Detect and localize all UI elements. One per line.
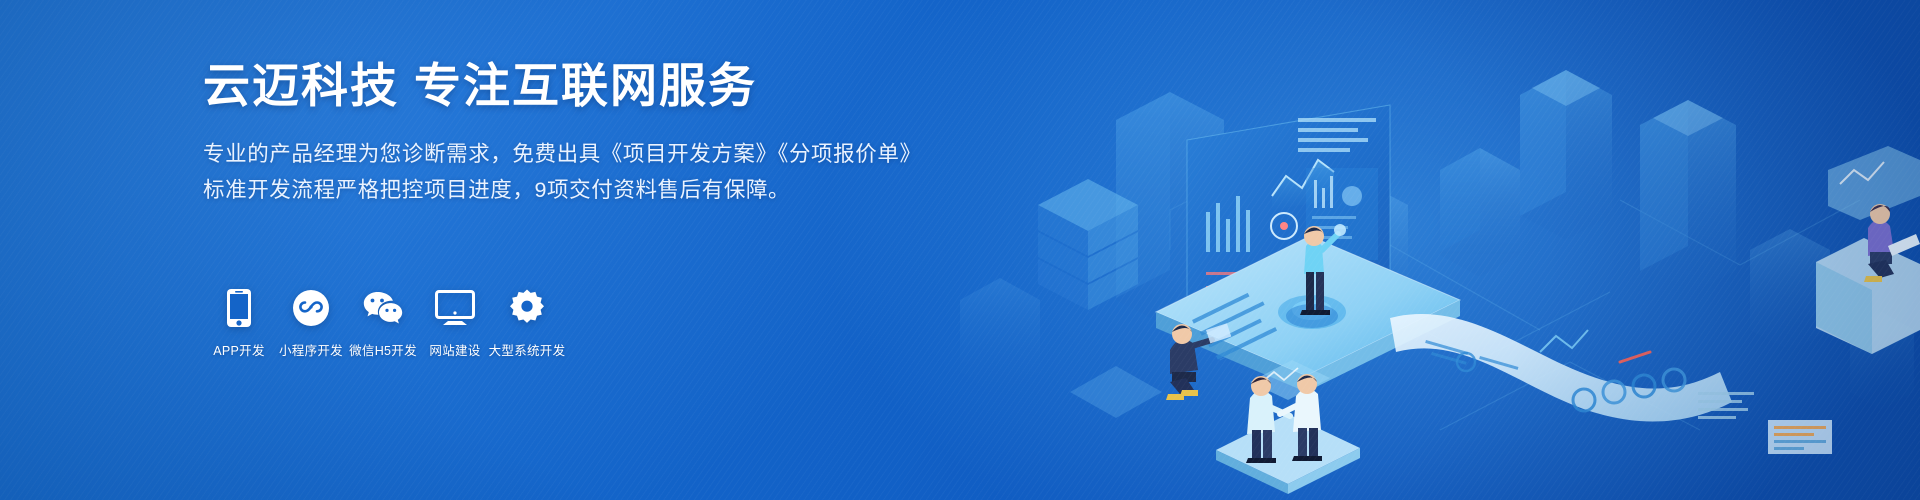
subtitle-line-1: 专业的产品经理为您诊断需求，免费出具《项目开发方案》《分项报价单》: [203, 137, 923, 171]
subtitle-line-2: 标准开发流程严格把控项目进度，9项交付资料售后有保障。: [203, 173, 923, 207]
service-item-miniprogram[interactable]: 小程序开发: [275, 287, 347, 359]
service-label: 网站建设: [429, 340, 480, 359]
service-label: 小程序开发: [279, 340, 343, 359]
service-label: 大型系统开发: [489, 340, 566, 359]
page-title: 云迈科技 专注互联网服务: [203, 60, 923, 113]
monitor-icon: [435, 287, 475, 329]
service-list: APP开发 小程序开发: [203, 287, 563, 359]
wechat-icon: [362, 287, 404, 329]
isometric-illustration: [920, 0, 1920, 500]
service-item-website[interactable]: 网站建设: [419, 287, 491, 359]
mobile-phone-icon: [226, 287, 252, 329]
service-item-app[interactable]: APP开发: [203, 287, 275, 359]
service-item-wechat-h5[interactable]: 微信H5开发: [347, 287, 419, 359]
service-label: APP开发: [213, 340, 265, 359]
hero-banner: 云迈科技 专注互联网服务 专业的产品经理为您诊断需求，免费出具《项目开发方案》《…: [0, 0, 1920, 500]
gear-icon: [508, 287, 546, 329]
banner-copy: 云迈科技 专注互联网服务 专业的产品经理为您诊断需求，免费出具《项目开发方案》《…: [203, 60, 923, 207]
city-buildings: [960, 70, 1914, 418]
server-stack: [1038, 179, 1138, 310]
laptop-person: [1816, 204, 1920, 354]
service-label: 微信H5开发: [349, 340, 417, 359]
service-item-large-system[interactable]: 大型系统开发: [491, 287, 563, 359]
mini-program-icon: [292, 287, 330, 329]
